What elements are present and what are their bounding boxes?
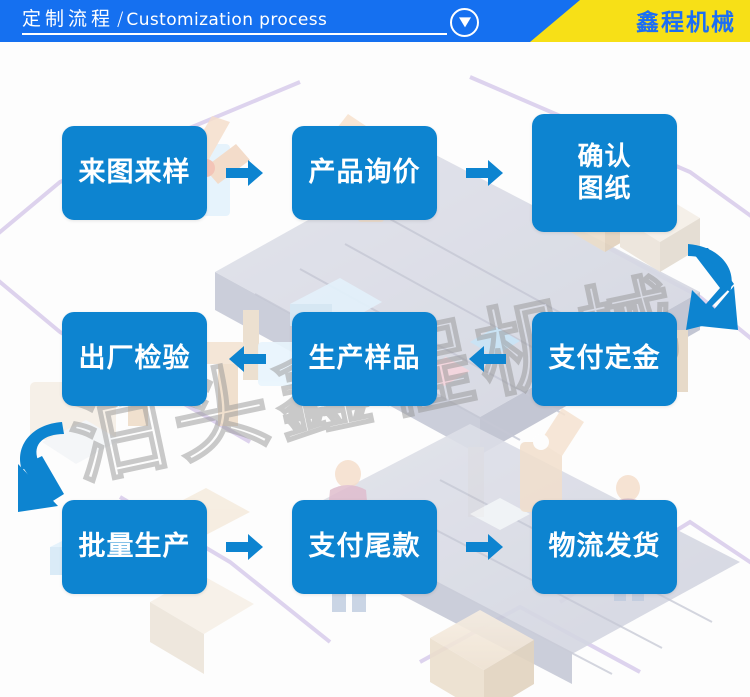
flow-step-lai-tu-lai-yang[interactable]: 来图来样 <box>62 126 207 220</box>
arrow-shaft <box>466 168 490 178</box>
flow-step-label: 来图来样 <box>79 157 191 189</box>
flow-step-label-line-1: 确认 <box>577 141 631 174</box>
customization-process-page: 定制流程/Customization process 鑫程机械 <box>0 0 750 697</box>
flow-step-zhi-fu-wei-kuan[interactable]: 支付尾款 <box>292 500 437 594</box>
arrow-shaft <box>226 542 250 552</box>
flow-step-zhi-fu-ding-jin[interactable]: 支付定金 <box>532 312 677 406</box>
title-underline <box>22 33 447 35</box>
arrow-right-1 <box>226 160 266 186</box>
chevron-down-glyph <box>459 17 471 27</box>
arrow-shaft <box>242 354 266 364</box>
flow-step-label: 批量生产 <box>79 531 191 563</box>
arrow-head <box>488 160 503 186</box>
turn-arrow-right-down-icon <box>678 234 750 344</box>
flow-stage: 泊头鑫程机械 来图来样 产品询价 确认 图纸 <box>0 42 750 697</box>
page-title-cn: 定制流程 <box>22 8 114 30</box>
page-title-en: Customization process <box>126 10 327 30</box>
arrow-shaft <box>482 354 506 364</box>
brand-logo-text: 鑫程机械 <box>636 3 736 37</box>
arrow-left-1 <box>226 346 266 372</box>
arrow-head <box>248 160 263 186</box>
flow-step-chu-chang-jian-yan[interactable]: 出厂检验 <box>62 312 207 406</box>
chevron-down-circle-icon[interactable] <box>450 8 479 37</box>
arrow-head <box>229 346 244 372</box>
flow-step-label: 产品询价 <box>309 157 421 189</box>
flow-step-label-line-2: 图纸 <box>577 173 631 206</box>
page-header: 定制流程/Customization process 鑫程机械 <box>0 0 750 42</box>
arrow-right-2 <box>466 160 506 186</box>
flow-step-label: 支付尾款 <box>309 531 421 563</box>
arrow-shaft <box>466 542 490 552</box>
flow-step-pi-liang-sheng-chan[interactable]: 批量生产 <box>62 500 207 594</box>
flow-step-label: 支付定金 <box>549 343 661 375</box>
page-title: 定制流程/Customization process <box>22 4 327 31</box>
flow-step-wu-liu-fa-huo[interactable]: 物流发货 <box>532 500 677 594</box>
page-title-separator: / <box>114 8 126 30</box>
arrow-right-3 <box>226 534 266 560</box>
flow-step-label: 生产样品 <box>309 343 421 375</box>
arrow-right-4 <box>466 534 506 560</box>
flow-step-chan-pin-xun-jia[interactable]: 产品询价 <box>292 126 437 220</box>
arrow-head <box>469 346 484 372</box>
arrow-shaft <box>226 168 250 178</box>
flow-step-que-ren-tu-zhi[interactable]: 确认 图纸 <box>532 114 677 232</box>
flow-step-label: 出厂检验 <box>79 343 191 375</box>
arrow-head <box>488 534 503 560</box>
flow-step-label: 物流发货 <box>549 531 661 563</box>
arrow-left-2 <box>466 346 506 372</box>
arrow-head <box>248 534 263 560</box>
flow-step-sheng-chan-yang-pin[interactable]: 生产样品 <box>292 312 437 406</box>
